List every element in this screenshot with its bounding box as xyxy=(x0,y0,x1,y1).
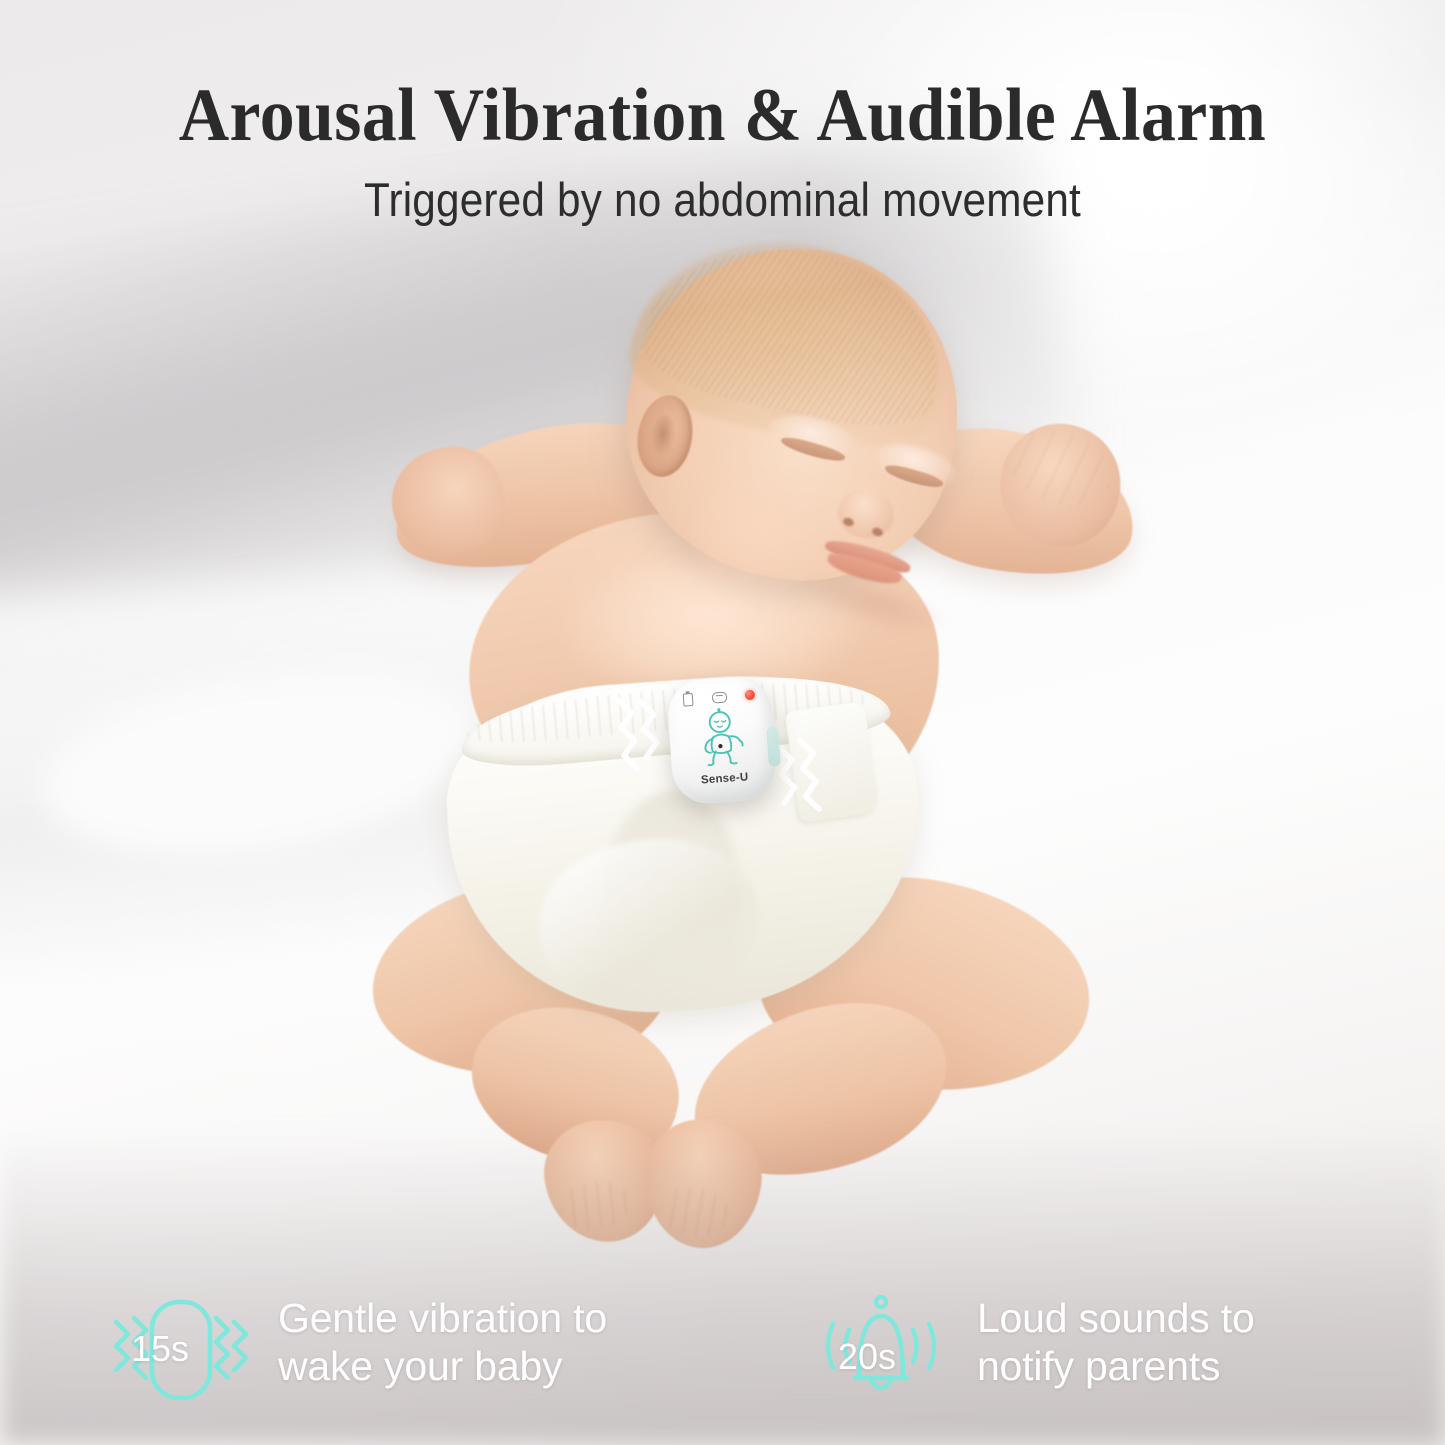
cloud-icon xyxy=(711,691,727,703)
page-title: Arousal Vibration & Audible Alarm xyxy=(51,78,1395,153)
feature-item-alarm: 20s Loud sounds to notify parents xyxy=(807,1288,1255,1412)
alarm-duration-badge: 20s xyxy=(825,1336,909,1378)
device-indicator-row xyxy=(683,688,756,707)
led-indicator xyxy=(745,690,756,701)
sense-u-monitor-device[interactable]: Sense-U xyxy=(666,675,778,806)
vibration-duration-badge: 15s xyxy=(122,1328,198,1370)
feature-item-vibration: 15s Gentle vibration to wake your baby xyxy=(104,1288,607,1412)
feature-label-alarm: Loud sounds to notify parents xyxy=(977,1288,1255,1391)
battery-icon xyxy=(683,692,694,706)
vibration-device-icon: 15s xyxy=(104,1288,256,1412)
product-feature-image: Sense-U Arousal Vibration & Audible Alar… xyxy=(0,0,1445,1445)
bell-icon: 20s xyxy=(807,1288,955,1412)
feature-row: 15s Gentle vibration to wake your baby xyxy=(0,1288,1445,1438)
page-subtitle: Triggered by no abdominal movement xyxy=(72,176,1373,223)
vibration-wave-left-icon xyxy=(607,687,670,783)
baby-cheek xyxy=(690,470,840,600)
baby-line-art-icon xyxy=(689,706,755,770)
feature-label-vibration: Gentle vibration to wake your baby xyxy=(278,1288,607,1391)
device-brand-label: Sense-U xyxy=(672,769,777,788)
